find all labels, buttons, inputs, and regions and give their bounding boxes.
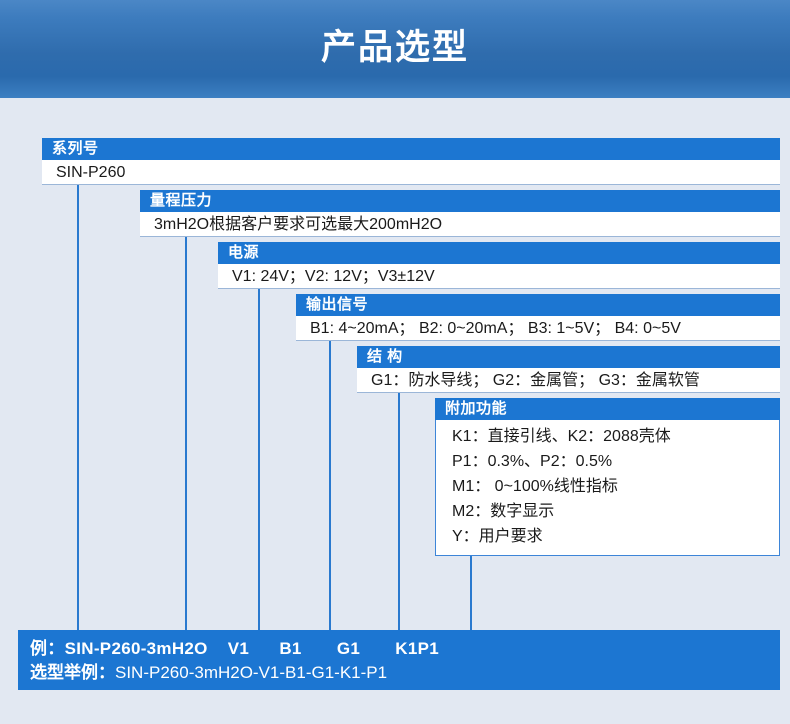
connector-line-series — [77, 164, 79, 630]
connector-line-range — [185, 216, 187, 630]
selection-diagram: 系列号 SIN-P260 量程压力 3mH2O根据客户要求可选最大200mH2O… — [0, 98, 790, 724]
row-range-pressure-value[interactable]: 3mH2O根据客户要求可选最大200mH2O — [140, 212, 780, 237]
page-banner: 产品选型 — [0, 0, 790, 98]
row-range-pressure-header: 量程压力 — [140, 190, 780, 212]
row-structure-value[interactable]: G1：防水导线； G2：金属管； G3：金属软管 — [357, 368, 780, 393]
additional-function-item[interactable]: K1：直接引线、K2：2088壳体 — [452, 424, 779, 449]
example-label: 例： — [30, 639, 65, 658]
row-power-supply-header: 电源 — [218, 242, 780, 264]
example-code-parts: SIN-P260-3mH2O V1 B1 G1 K1P1 — [65, 639, 439, 658]
row-power-supply: 电源 V1: 24V；V2: 12V；V3±12V — [218, 242, 780, 289]
connector-line-structure — [398, 372, 400, 630]
product-selection-page: 产品选型 系列号 SIN-P260 量程压力 3mH2O根据客户要求可选最大20… — [0, 0, 790, 724]
example-full-code-line: 选型举例：SIN-P260-3mH2O-V1-B1-G1-K1-P1 — [30, 661, 780, 685]
row-power-supply-value[interactable]: V1: 24V；V2: 12V；V3±12V — [218, 264, 780, 289]
additional-function-item[interactable]: M1： 0~100%线性指标 — [452, 474, 779, 499]
example-code-line: 例：SIN-P260-3mH2O V1 B1 G1 K1P1 — [30, 637, 780, 661]
additional-function-item[interactable]: Y：用户要求 — [452, 524, 779, 549]
row-additional-functions: 附加功能 K1：直接引线、K2：2088壳体 P1：0.3%、P2：0.5% M… — [435, 398, 780, 556]
row-structure-header: 结 构 — [357, 346, 780, 368]
example-full-code: SIN-P260-3mH2O-V1-B1-G1-K1-P1 — [115, 663, 387, 682]
connector-line-power — [258, 268, 260, 630]
page-title: 产品选型 — [0, 0, 790, 98]
row-output-signal-header: 输出信号 — [296, 294, 780, 316]
example-bar: 例：SIN-P260-3mH2O V1 B1 G1 K1P1 选型举例：SIN-… — [18, 630, 780, 690]
row-series: 系列号 SIN-P260 — [42, 138, 780, 185]
additional-functions-list: K1：直接引线、K2：2088壳体 P1：0.3%、P2：0.5% M1： 0~… — [435, 420, 780, 556]
row-range-pressure: 量程压力 3mH2O根据客户要求可选最大200mH2O — [140, 190, 780, 237]
row-additional-functions-header: 附加功能 — [435, 398, 780, 420]
additional-function-item[interactable]: M2：数字显示 — [452, 499, 779, 524]
row-structure: 结 构 G1：防水导线； G2：金属管； G3：金属软管 — [357, 346, 780, 393]
row-series-header: 系列号 — [42, 138, 780, 160]
example-full-label: 选型举例： — [30, 663, 115, 682]
row-output-signal-value[interactable]: B1: 4~20mA； B2: 0~20mA； B3: 1~5V； B4: 0~… — [296, 316, 780, 341]
row-output-signal: 输出信号 B1: 4~20mA； B2: 0~20mA； B3: 1~5V； B… — [296, 294, 780, 341]
row-series-value[interactable]: SIN-P260 — [42, 160, 780, 185]
connector-line-output — [329, 320, 331, 630]
additional-function-item[interactable]: P1：0.3%、P2：0.5% — [452, 449, 779, 474]
